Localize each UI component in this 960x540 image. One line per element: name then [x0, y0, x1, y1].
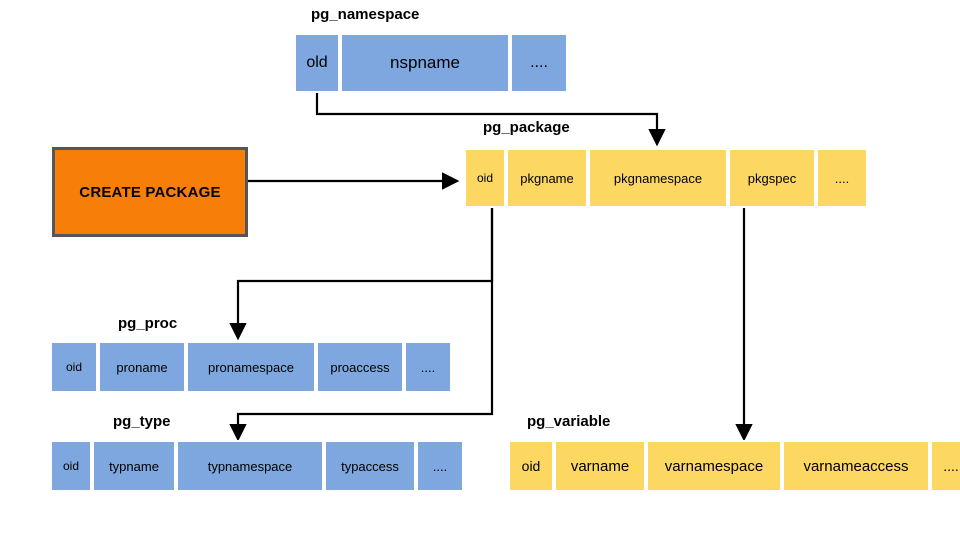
cell-pg-package-pkgname: pkgname: [506, 148, 588, 208]
create-package-label: CREATE PACKAGE: [79, 184, 220, 201]
cell-pg-proc-pronamespace: pronamespace: [186, 341, 316, 393]
cell-pg-package-pkgnamespace: pkgnamespace: [588, 148, 728, 208]
create-package-box[interactable]: CREATE PACKAGE: [52, 147, 248, 237]
cell-pg-variable-varnamespace: varnamespace: [646, 440, 782, 492]
cell-pg-type-typname: typname: [92, 440, 176, 492]
cell-pg-type-more: ....: [416, 440, 464, 492]
cell-pg-variable-oid: oid: [508, 440, 554, 492]
cell-pg-proc-oid: oid: [50, 341, 98, 393]
table-title-pg-package: pg_package: [483, 119, 570, 136]
table-pg-variable: oid varname varnamespace varnameaccess .…: [508, 440, 960, 492]
cell-pg-package-oid: oid: [464, 148, 506, 208]
cell-pg-type-typnamespace: typnamespace: [176, 440, 324, 492]
table-pg-type: oid typname typnamespace typaccess ....: [50, 440, 464, 492]
cell-pg-variable-varname: varname: [554, 440, 646, 492]
cell-pg-package-more: ....: [816, 148, 868, 208]
cell-pg-package-pkgspec: pkgspec: [728, 148, 816, 208]
table-pg-namespace: old nspname ....: [294, 33, 568, 93]
cell-pg-namespace-nspname: nspname: [340, 33, 510, 93]
table-title-pg-namespace: pg_namespace: [311, 6, 419, 23]
diagram-canvas: CREATE PACKAGE pg_namespace old nspname …: [0, 0, 960, 540]
cell-pg-variable-varnameaccess: varnameaccess: [782, 440, 930, 492]
cell-pg-type-oid: oid: [50, 440, 92, 492]
table-pg-proc: oid proname pronamespace proaccess ....: [50, 341, 452, 393]
table-title-pg-proc: pg_proc: [118, 315, 177, 332]
cell-pg-proc-more: ....: [404, 341, 452, 393]
table-title-pg-variable: pg_variable: [527, 413, 610, 430]
cell-pg-namespace-more: ....: [510, 33, 568, 93]
arrow-pg-package-to-pg-type: [238, 208, 492, 437]
cell-pg-type-typaccess: typaccess: [324, 440, 416, 492]
cell-pg-variable-more: ....: [930, 440, 960, 492]
cell-pg-proc-proaccess: proaccess: [316, 341, 404, 393]
arrow-pg-package-to-pg-proc: [238, 208, 492, 336]
cell-pg-namespace-old: old: [294, 33, 340, 93]
table-title-pg-type: pg_type: [113, 413, 171, 430]
table-pg-package: oid pkgname pkgnamespace pkgspec ....: [464, 148, 868, 208]
cell-pg-proc-proname: proname: [98, 341, 186, 393]
